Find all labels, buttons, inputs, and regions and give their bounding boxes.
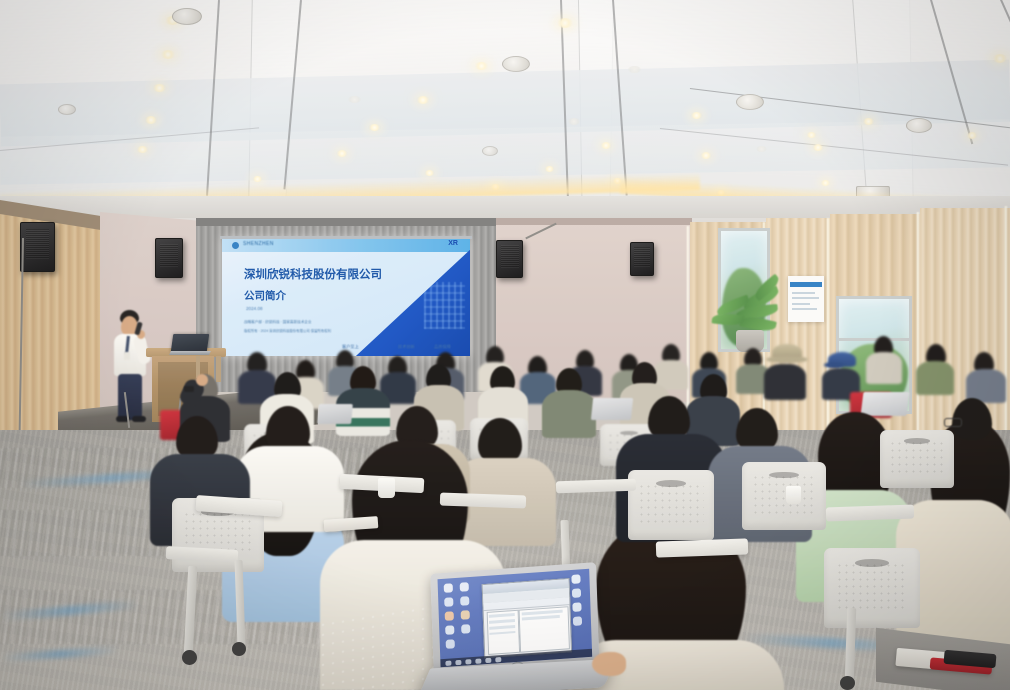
chair-handle-cutout bbox=[904, 438, 931, 444]
presenter-legs bbox=[118, 374, 142, 420]
attendee-hat-brim bbox=[766, 356, 808, 363]
desktop-icon[interactable] bbox=[573, 616, 582, 626]
ceiling-speaker bbox=[736, 94, 764, 110]
desktop-icon[interactable] bbox=[444, 583, 453, 593]
slide-bottom-label: 技术创新 bbox=[398, 344, 415, 350]
poster-text-line bbox=[792, 308, 817, 310]
chair-handle-cutout bbox=[769, 472, 799, 479]
taskbar-icon[interactable] bbox=[455, 660, 461, 665]
chair-caster bbox=[840, 676, 855, 690]
ceiling-downlight bbox=[544, 166, 555, 172]
ceiling-downlight bbox=[992, 54, 1008, 63]
desktop-icon[interactable] bbox=[572, 602, 581, 612]
wall-speaker-right bbox=[630, 242, 654, 276]
slide-footer-line-2: 版权所有 · 2024 深圳欣锐科技股份有限公司 保留所有权利 bbox=[244, 328, 331, 333]
desktop-icon[interactable] bbox=[444, 597, 453, 607]
projection-screen: SHENZHEN XR 深圳欣锐科技股份有限公司 公司简介 2024.08 战略… bbox=[222, 238, 470, 356]
company-logo-text: SHENZHEN bbox=[243, 241, 274, 247]
taskbar-icon[interactable] bbox=[495, 657, 501, 662]
slide-date: 2024.08 bbox=[246, 306, 263, 311]
poster-header-bar bbox=[790, 282, 822, 288]
ceiling-downlight bbox=[690, 112, 703, 119]
smoke-detector bbox=[58, 104, 76, 115]
ceiling-downlight bbox=[144, 116, 158, 124]
chair-caster bbox=[232, 642, 246, 656]
attendee-glasses-icon bbox=[944, 418, 962, 427]
ceiling-downlight bbox=[600, 142, 612, 149]
chair-handle-cutout bbox=[855, 559, 890, 567]
chair-back bbox=[742, 462, 826, 530]
chair-caster bbox=[182, 650, 197, 665]
ceiling-downlight bbox=[966, 132, 978, 139]
presentation-slide: SHENZHEN XR 深圳欣锐科技股份有限公司 公司简介 2024.08 战略… bbox=[222, 238, 470, 356]
desktop-icon[interactable] bbox=[461, 624, 470, 634]
wall-speaker-front-left bbox=[155, 238, 183, 278]
attendee-hand bbox=[592, 652, 626, 676]
ceiling-speaker bbox=[502, 56, 530, 72]
chair-tablet-arm bbox=[656, 538, 749, 557]
slide-corner-mark: XR bbox=[448, 240, 458, 247]
ceiling-downlight-dim bbox=[756, 146, 767, 152]
desktop-icon[interactable] bbox=[445, 611, 454, 621]
chair-handle-cutout bbox=[656, 480, 687, 487]
poster-text-line bbox=[792, 292, 815, 294]
chair-back bbox=[824, 548, 920, 628]
ceiling-downlight bbox=[136, 146, 149, 153]
attendee-body bbox=[866, 352, 902, 384]
attendee-laptop bbox=[861, 392, 910, 416]
wall-speaker-front-right bbox=[496, 240, 523, 278]
ceiling-downlight bbox=[806, 132, 817, 138]
presenter-shoe bbox=[132, 416, 146, 422]
conference-room-scene: SHENZHEN XR 深圳欣锐科技股份有限公司 公司简介 2024.08 战略… bbox=[0, 0, 1010, 690]
slide-title: 深圳欣锐科技股份有限公司 bbox=[244, 266, 382, 282]
ceiling-downlight bbox=[424, 170, 435, 176]
taskbar-icon[interactable] bbox=[445, 661, 451, 666]
slide-footer-line-1: 战略客户部 · 欣锐科技 · 国家高新技术企业 bbox=[244, 320, 311, 325]
company-logo-icon bbox=[232, 242, 239, 249]
ceiling-downlight bbox=[252, 176, 263, 182]
paper-cup bbox=[378, 478, 395, 498]
taskbar-icon[interactable] bbox=[485, 658, 491, 663]
window-mullion bbox=[836, 338, 912, 341]
ceiling-downlight bbox=[820, 180, 831, 186]
poster-text-line bbox=[792, 303, 811, 305]
ceiling-downlight bbox=[416, 96, 430, 104]
desktop-icon[interactable] bbox=[445, 625, 454, 635]
desktop-icon[interactable] bbox=[460, 596, 469, 606]
presenter-badge bbox=[124, 352, 130, 360]
desktop-icon[interactable] bbox=[446, 639, 455, 649]
attendee-laptop bbox=[317, 404, 353, 424]
led-wall-strip bbox=[916, 212, 920, 440]
slide-subtitle: 公司简介 bbox=[244, 288, 286, 303]
ceiling-downlight bbox=[368, 124, 381, 131]
application-window[interactable] bbox=[482, 578, 572, 658]
paper-cup bbox=[786, 486, 801, 504]
ceiling-downlight bbox=[160, 50, 176, 59]
desktop-icon[interactable] bbox=[460, 582, 469, 592]
ceiling-downlight bbox=[336, 150, 348, 157]
desktop-icon[interactable] bbox=[572, 588, 581, 598]
smoke-detector bbox=[482, 146, 498, 156]
ceiling-downlight bbox=[862, 118, 875, 125]
attendee-body bbox=[764, 364, 806, 400]
ceiling-downlight-dim bbox=[568, 118, 580, 125]
led-wall-strip bbox=[826, 218, 830, 434]
lectern-laptop-screen bbox=[171, 334, 210, 352]
ceiling-speaker bbox=[906, 118, 932, 133]
led-wall-strip bbox=[1004, 206, 1008, 442]
led-wall-strip bbox=[686, 226, 690, 421]
ceiling-downlight bbox=[700, 152, 712, 159]
poster-text-line bbox=[792, 297, 819, 299]
ceiling-downlight bbox=[556, 18, 574, 28]
attendee-body bbox=[916, 361, 954, 395]
desktop-icon[interactable] bbox=[571, 574, 580, 584]
ceiling-downlight bbox=[812, 144, 824, 151]
attendee-body bbox=[542, 390, 596, 438]
ceiling-downlight-dim bbox=[348, 96, 361, 103]
wall-notice-poster bbox=[788, 276, 824, 322]
ceiling-downlight bbox=[152, 84, 167, 92]
chair-back bbox=[628, 470, 714, 540]
attendee-laptop bbox=[591, 398, 633, 420]
wall-speaker-left bbox=[20, 222, 55, 272]
ceiling bbox=[0, 0, 1010, 215]
attendee-hand bbox=[196, 374, 208, 386]
desktop-icon[interactable] bbox=[461, 610, 470, 620]
laptop-screen[interactable] bbox=[438, 569, 593, 668]
wristwatch bbox=[184, 386, 194, 392]
taskbar-icon[interactable] bbox=[465, 659, 471, 664]
taskbar-icon[interactable] bbox=[475, 659, 481, 664]
lectern-support bbox=[216, 356, 221, 382]
ceiling-speaker bbox=[172, 8, 202, 25]
slide-bottom-label: 品质保障 bbox=[434, 344, 451, 350]
chair-handle-cutout bbox=[620, 431, 639, 436]
ceiling-downlight bbox=[474, 62, 489, 70]
chair-back bbox=[880, 430, 954, 488]
slide-product-illustration bbox=[424, 282, 465, 330]
lectern-laptop-base bbox=[169, 351, 211, 355]
ceiling-downlight-dim bbox=[628, 66, 641, 73]
